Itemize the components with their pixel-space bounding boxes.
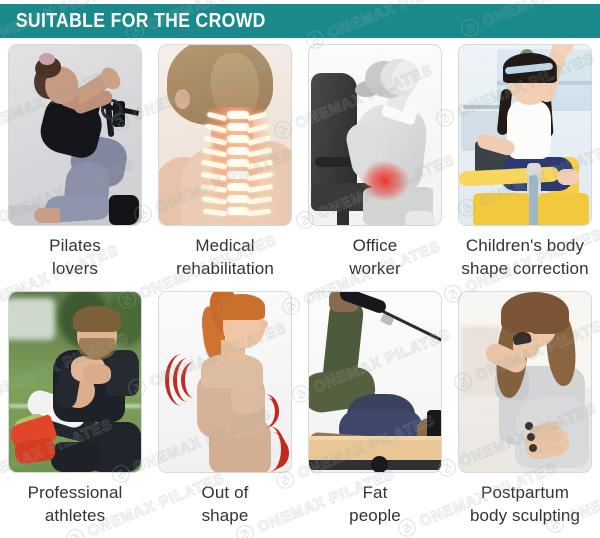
thumbnail-postpartum-sculpting bbox=[458, 291, 592, 473]
grid-item-out-of-shape[interactable]: Out of shape bbox=[150, 291, 300, 538]
scene-office-worker bbox=[309, 45, 441, 225]
scene-childrens-body-shape bbox=[459, 45, 591, 225]
caption-fat-people: Fat people bbox=[349, 482, 401, 528]
grid-item-office-worker[interactable]: Office worker bbox=[300, 44, 450, 291]
spine-overlay-graphic bbox=[221, 109, 255, 223]
page-root: SUITABLE FOR THE CROWD bbox=[0, 0, 600, 538]
grid-item-fat-people[interactable]: Fat people bbox=[300, 291, 450, 538]
grid-item-professional-athletes[interactable]: Professional athletes bbox=[0, 291, 150, 538]
scene-medical-rehabilitation bbox=[159, 45, 291, 225]
thumbnail-professional-athletes bbox=[8, 291, 142, 473]
thumbnail-medical-rehabilitation bbox=[158, 44, 292, 226]
scene-fat-people bbox=[309, 292, 441, 472]
crowd-grid: Pilates lovers bbox=[0, 44, 600, 538]
grid-item-postpartum-sculpting[interactable]: Postpartum body sculpting bbox=[450, 291, 600, 538]
scene-pilates-lovers bbox=[9, 45, 141, 225]
caption-postpartum-sculpting: Postpartum body sculpting bbox=[470, 482, 580, 528]
grid-item-pilates-lovers[interactable]: Pilates lovers bbox=[0, 44, 150, 291]
caption-pilates-lovers: Pilates lovers bbox=[49, 235, 101, 281]
caption-professional-athletes: Professional athletes bbox=[28, 482, 123, 528]
thumbnail-fat-people bbox=[308, 291, 442, 473]
pain-highlight bbox=[361, 161, 409, 201]
caption-medical-rehabilitation: Medical rehabilitation bbox=[176, 235, 274, 281]
section-header-banner: SUITABLE FOR THE CROWD bbox=[0, 4, 600, 38]
thumbnail-out-of-shape bbox=[158, 291, 292, 473]
grid-item-childrens-body-shape[interactable]: Children's body shape correction bbox=[450, 44, 600, 291]
thumbnail-pilates-lovers bbox=[8, 44, 142, 226]
caption-out-of-shape: Out of shape bbox=[202, 482, 249, 528]
scene-postpartum-sculpting bbox=[459, 292, 591, 472]
scene-professional-athletes bbox=[9, 292, 141, 472]
thumbnail-office-worker bbox=[308, 44, 442, 226]
thumbnail-childrens-body-shape bbox=[458, 44, 592, 226]
scene-out-of-shape bbox=[159, 292, 291, 472]
caption-childrens-body-shape: Children's body shape correction bbox=[461, 235, 588, 281]
caption-office-worker: Office worker bbox=[349, 235, 401, 281]
page-title: SUITABLE FOR THE CROWD bbox=[0, 10, 266, 33]
grid-item-medical-rehabilitation[interactable]: Medical rehabilitation bbox=[150, 44, 300, 291]
